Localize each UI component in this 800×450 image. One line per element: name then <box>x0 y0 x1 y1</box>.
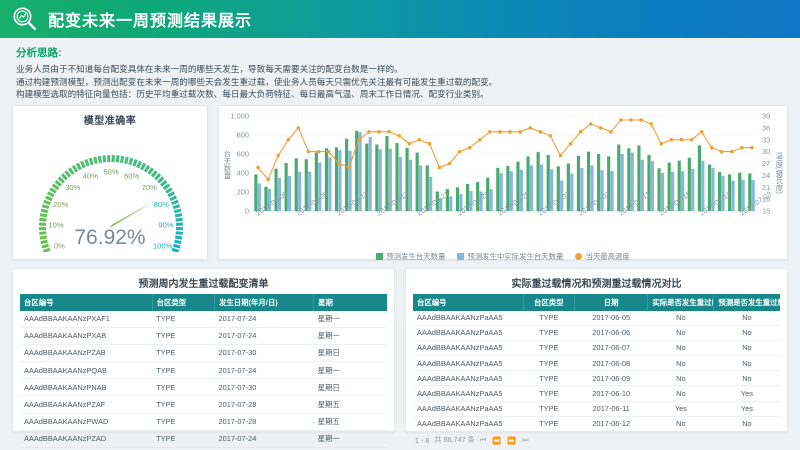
gauge-segment <box>66 171 70 176</box>
line-point <box>538 130 542 134</box>
table-cell: TYPE <box>523 416 574 431</box>
table-header-row: 台区编号台区类型发生日期(年月/日)星期 <box>20 294 387 311</box>
table-row[interactable]: AAAdBBAAKAANzPZAB TYPE2017-07-30星期日 <box>20 344 387 361</box>
table-cell: 2017-07-30 <box>215 344 314 361</box>
table-cell: AAAdBBAAKAANzPNAB <box>20 379 152 396</box>
bar <box>385 135 388 210</box>
bar <box>651 161 654 211</box>
table-cell: 星期日 <box>314 379 387 396</box>
bar <box>449 196 452 211</box>
gauge-panel: 模型准确率 0%10%20%30%40%50%60%70%80%90%100% … <box>12 105 208 260</box>
bar <box>621 154 624 211</box>
table-cell: 2017-07-24 <box>215 311 314 328</box>
table-cell: AAAdBBAAKAANzPXAF1 <box>20 311 152 328</box>
table-cell: 2017-06-12 <box>574 416 647 431</box>
line-point <box>468 145 472 149</box>
gauge-tick-label: 30% <box>65 183 80 192</box>
table-cell: No <box>648 356 714 371</box>
search-chart-icon <box>12 6 38 32</box>
pager-first-button[interactable]: ⏮ <box>480 435 487 445</box>
legend-label: 当天最高温度 <box>585 251 629 262</box>
pager-last-button[interactable]: ⏭ <box>522 435 529 445</box>
table-row[interactable]: AAAdBBAAKAANzPQAB TYPE2017-07-24星期一 <box>20 362 387 379</box>
gauge-segment <box>166 188 172 192</box>
table-row[interactable]: AAAdBBAAKAANzPaAA5TYPE2017-06-05NoNo <box>413 311 780 326</box>
table-row[interactable]: AAAdBBAAKAANzPaAA5TYPE2017-06-11YesYes <box>413 401 780 416</box>
table-row[interactable]: AAAdBBAAKAANzPaAA5TYPE2017-06-07NoNo <box>413 340 780 355</box>
gauge-segment <box>44 201 51 204</box>
table-cell: 星期一 <box>314 430 387 447</box>
table-cell: 2017-06-09 <box>574 371 647 386</box>
table-cell: 2017-06-06 <box>574 325 647 340</box>
line-point <box>710 145 714 149</box>
legend-swatch <box>457 253 464 260</box>
gauge-needle <box>109 201 154 228</box>
y-axis-tick: 200 <box>237 187 249 196</box>
bar <box>520 169 523 210</box>
bar <box>335 147 338 211</box>
table-cell: TYPE <box>523 356 574 371</box>
gauge-segment <box>46 196 52 199</box>
tables-row: 预测周内发生重过载配变清单 台区编号台区类型发生日期(年月/日)星期 AAAdB… <box>0 260 800 432</box>
table-cell: TYPE <box>523 340 574 355</box>
bar <box>379 149 382 211</box>
line-point <box>649 122 653 126</box>
bar <box>526 156 529 211</box>
gauge-segment <box>59 177 64 182</box>
table-cell: TYPE <box>152 311 214 328</box>
table-cell: AAAdBBAAKAANzPaAA5 <box>413 340 523 355</box>
line-point <box>256 165 260 169</box>
line-point <box>357 137 361 141</box>
table-cell: 2017-06-11 <box>574 401 647 416</box>
table-cell: AAAdBBAAKAANzPXAB <box>20 327 152 344</box>
pager-next-button[interactable]: ⏩ <box>507 436 517 445</box>
line-point <box>740 145 744 149</box>
line-point <box>458 149 462 153</box>
y-axis-tick: 800 <box>237 130 249 139</box>
line-point <box>498 130 502 134</box>
line-point <box>690 137 694 141</box>
line-point <box>579 130 583 134</box>
gauge-segment <box>161 181 166 185</box>
line-point <box>478 137 482 141</box>
bar <box>369 136 372 210</box>
gauge-segment <box>56 181 61 185</box>
line-point <box>337 161 341 165</box>
gauge-segment <box>77 163 80 169</box>
table-cell: AAAdBBAAKAANzPaAA5 <box>413 386 523 401</box>
actual-vs-forecast-pager[interactable]: 1 - 8 共 86,747 条 ⏮ ⏪ ⏩ ⏭ <box>413 432 780 445</box>
gauge-tick-label: 60% <box>124 171 139 180</box>
table-cell: No <box>714 340 780 355</box>
table-cell: 2017-07-24 <box>215 430 314 447</box>
table-cell: 星期日 <box>314 344 387 361</box>
gauge-segment <box>174 210 181 212</box>
table-cell: No <box>648 311 714 326</box>
page-title: 配变未来一周预测结果展示 <box>48 7 252 31</box>
forecast-bar-chart: 02004006008001,0001518212427303336392017… <box>219 106 787 256</box>
table-cell: AAAdBBAAKAANzPZAF <box>20 396 152 413</box>
gauge-segment <box>81 161 84 167</box>
bar <box>490 189 493 211</box>
gauge-segment <box>99 155 100 162</box>
line-point <box>518 130 522 134</box>
bar <box>658 168 661 211</box>
y2-axis-tick: 27 <box>762 159 770 168</box>
y-axis-tick: 400 <box>237 168 249 177</box>
line-point <box>438 165 442 169</box>
table-cell: 2017-07-24 <box>215 327 314 344</box>
table-cell: AAAdBBAAKAANzPaAA5 <box>413 311 523 326</box>
actual-vs-forecast-table: 台区编号台区类型日期实际是否发生重过载预测是否发生重过载 AAAdBBAAKAA… <box>413 294 780 433</box>
table-cell: 星期一 <box>314 327 387 344</box>
bar <box>325 148 328 211</box>
gauge-tick-label: 20% <box>53 200 68 209</box>
gauge-segment <box>86 159 88 166</box>
table-row[interactable]: AAAdBBAAKAANzPNAB TYPE2017-07-30星期日 <box>20 379 387 396</box>
bar <box>285 163 288 211</box>
legend-swatch <box>575 253 582 260</box>
line-point <box>448 161 452 165</box>
gauge-segment <box>95 156 97 163</box>
table-cell: 2017-07-28 <box>215 413 314 430</box>
bar <box>607 156 610 211</box>
legend-swatch <box>376 253 383 260</box>
gauge-segment <box>90 158 92 165</box>
bar <box>567 163 570 211</box>
table-cell: AAAdBBAAKAANzPZAB <box>20 344 152 361</box>
table-row[interactable]: AAAdBBAAKAANzPXAB TYPE2017-07-24星期一 <box>20 327 387 344</box>
line-point <box>286 137 290 141</box>
gauge-tick-label: 40% <box>83 171 98 180</box>
line-point <box>508 130 512 134</box>
y-axis-tick: 1,000 <box>231 111 250 120</box>
bar <box>577 155 580 210</box>
bar <box>611 171 614 211</box>
forecast-list-panel: 预测周内发生重过载配变清单 台区编号台区类型发生日期(年月/日)星期 AAAdB… <box>12 268 395 432</box>
chart-legend: 预测发生台天数量预测发生中实际发生台天数量当天最高温度 <box>219 251 787 262</box>
table-cell: AAAdBBAAKAANzPaAA5 <box>413 371 523 386</box>
table-cell: No <box>648 325 714 340</box>
gauge-segment <box>172 201 179 204</box>
line-point <box>659 141 663 145</box>
analysis-summary: 分析思路: 业务人员由于不知道每台配变具体在未来一周的哪些天发生，导致每天需要关… <box>0 38 800 105</box>
column-header[interactable]: 台区编号 <box>20 294 152 311</box>
column-header[interactable]: 实际是否发生重过载 <box>648 294 714 311</box>
pager-range: 1 - 8 <box>415 436 429 445</box>
column-header[interactable]: 台区类型 <box>152 294 214 311</box>
bar <box>416 152 419 210</box>
actual-vs-forecast-title: 实际重过载情况和预测重过载情况对比 <box>413 275 780 290</box>
table-cell: 2017-06-08 <box>574 356 647 371</box>
line-point <box>307 149 311 153</box>
table-cell: 星期五 <box>314 396 387 413</box>
table-cell: 星期一 <box>314 311 387 328</box>
line-point <box>407 141 411 145</box>
line-point <box>730 149 734 153</box>
bar <box>698 145 701 211</box>
table-cell: TYPE <box>152 362 214 379</box>
gauge-title: 模型准确率 <box>13 106 207 127</box>
line-point <box>266 177 270 181</box>
y2-axis-tick: 30 <box>762 147 770 156</box>
gauge-value: 76.92% <box>13 226 207 250</box>
line-point <box>720 149 724 153</box>
table-cell: AAAdBBAAKAANzPZAD <box>20 430 152 447</box>
analysis-line-2: 通过构建预测模型，预测出配变在未来一周的哪些天会发生重过载，使业务人员每天只需优… <box>16 76 786 89</box>
column-header[interactable]: 台区类型 <box>523 294 574 311</box>
table-cell: AAAdBBAAKAANzPQAB <box>20 362 152 379</box>
bar <box>540 164 543 211</box>
table-row[interactable]: AAAdBBAAKAANzPZAF TYPE2017-07-28星期五 <box>20 396 387 413</box>
line-point <box>367 130 371 134</box>
table-cell: TYPE <box>523 371 574 386</box>
bar <box>288 175 291 210</box>
line-point <box>750 145 754 149</box>
table-cell: AAAdBBAAKAANzPaAA5 <box>413 356 523 371</box>
gauge-segment <box>152 171 156 176</box>
bar <box>688 157 691 210</box>
y2-axis-tick: 36 <box>762 123 770 132</box>
table-cell: AAAdBBAAKAANzPaAA5 <box>413 325 523 340</box>
table-cell: TYPE <box>523 325 574 340</box>
bar <box>406 147 409 210</box>
gauge-segment <box>170 196 176 199</box>
gauge-segment <box>158 177 163 182</box>
bar <box>328 157 331 211</box>
pager-prev-button[interactable]: ⏪ <box>492 436 502 445</box>
line-point <box>639 118 643 122</box>
y2-axis-tick: 24 <box>762 170 770 179</box>
table-cell: No <box>714 356 780 371</box>
table-row[interactable]: AAAdBBAAKAANzPaAA5TYPE2017-06-06NoNo <box>413 325 780 340</box>
charts-row: 模型准确率 0%10%20%30%40%50%60%70%80%90%100% … <box>0 105 800 260</box>
bar <box>570 173 573 211</box>
line-point <box>609 130 613 134</box>
bar <box>409 159 412 210</box>
gauge-tick-label: 80% <box>154 200 169 209</box>
line-point <box>599 126 603 130</box>
table-cell: No <box>714 311 780 326</box>
table-cell: AAAdBBAAKAANzPaAA5 <box>413 401 523 416</box>
table-cell: No <box>648 386 714 401</box>
gauge-segment <box>62 174 67 179</box>
bar <box>691 168 694 210</box>
forecast-list-title: 预测周内发生重过载配变清单 <box>20 275 387 290</box>
table-cell: No <box>714 325 780 340</box>
line-point <box>428 141 432 145</box>
table-cell: Yes <box>714 401 780 416</box>
table-cell: No <box>648 340 714 355</box>
y-axis-tick: 0 <box>245 206 249 215</box>
line-point <box>700 130 704 134</box>
table-cell: TYPE <box>523 311 574 326</box>
table-cell: 2017-06-07 <box>574 340 647 355</box>
gauge-segment <box>48 192 54 195</box>
column-header[interactable]: 发生日期(年月/日) <box>215 294 314 311</box>
bar <box>537 152 540 211</box>
table-row[interactable]: AAAdBBAAKAANzPWAD TYPE2017-07-28星期五 <box>20 413 387 430</box>
column-header[interactable]: 日期 <box>574 294 647 311</box>
bar <box>254 174 257 211</box>
line-point <box>377 130 381 134</box>
gauge-segment <box>164 184 170 188</box>
table-row[interactable]: AAAdBBAAKAANzPaAA5TYPE2017-06-12NoNo <box>413 416 780 431</box>
legend-item[interactable]: 当天最高温度 <box>575 251 629 262</box>
forecast-bar-chart-panel: 02004006008001,0001518212427303336392017… <box>218 105 788 260</box>
table-row[interactable]: AAAdBBAAKAANzPXAF1TYPE2017-07-24星期一 <box>20 311 387 328</box>
line-point <box>680 137 684 141</box>
line-point <box>670 137 674 141</box>
line-point <box>559 153 563 157</box>
y-axis-right-label: 温度(摄氏度) <box>774 152 785 194</box>
gauge-segment <box>117 155 118 162</box>
table-cell: TYPE <box>523 386 574 401</box>
column-header[interactable]: 星期 <box>314 294 387 311</box>
gauge-segment <box>155 174 160 179</box>
bar <box>530 165 533 211</box>
gauge-segment <box>50 188 56 192</box>
line-point <box>629 118 633 122</box>
table-row[interactable]: AAAdBBAAKAANzPZAD TYPE2017-07-24星期一 <box>20 430 387 447</box>
line-point <box>488 130 492 134</box>
table-cell: TYPE <box>152 396 214 413</box>
gauge-segment <box>145 165 149 171</box>
legend-label: 预测发生中实际发生台天数量 <box>467 251 563 262</box>
gauge-segment <box>73 165 77 171</box>
table-cell: TYPE <box>523 401 574 416</box>
line-point <box>387 130 391 134</box>
line-point <box>619 118 623 122</box>
y-axis-left-label: 台天数量 <box>222 150 233 180</box>
pager-total: 共 86,747 条 <box>434 435 474 445</box>
table-row[interactable]: AAAdBBAAKAANzPaAA5TYPE2017-06-09NoNo <box>413 371 780 386</box>
table-cell: TYPE <box>152 327 214 344</box>
table-cell: 2017-07-24 <box>215 362 314 379</box>
table-cell: TYPE <box>152 413 214 430</box>
line-point <box>418 137 422 141</box>
gauge-tick-label: 50% <box>103 167 118 176</box>
y-axis-tick: 600 <box>237 149 249 158</box>
bar <box>419 165 422 211</box>
table-cell: 2017-06-05 <box>574 311 647 326</box>
legend-item[interactable]: 预测发生中实际发生台天数量 <box>457 251 563 262</box>
bar <box>338 150 341 211</box>
gauge-segment <box>40 214 47 215</box>
line-point <box>549 133 553 137</box>
table-cell: No <box>714 416 780 431</box>
table-cell: No <box>648 416 714 431</box>
table-row[interactable]: AAAdBBAAKAANzPaAA5TYPE2017-06-08NoNo <box>413 356 780 371</box>
gauge-segment <box>173 205 180 207</box>
actual-vs-forecast-panel: 实际重过载情况和预测重过载情况对比 台区编号台区类型日期实际是否发生重过载预测是… <box>405 268 788 432</box>
line-point <box>276 153 280 157</box>
analysis-line-3: 构建模型选取的特征向量包括：历史平均重过载次数、每日最大负荷特征、每日最高气温、… <box>16 88 786 101</box>
bar <box>647 154 650 210</box>
line-point <box>347 165 351 169</box>
gauge-segment <box>126 156 128 163</box>
line-point <box>528 126 532 130</box>
line-point <box>569 141 573 145</box>
bar <box>496 167 499 210</box>
legend-label: 预测发生台天数量 <box>386 251 445 262</box>
model-accuracy-gauge: 0%10%20%30%40%50%60%70%80%90%100% 76.92% <box>13 127 207 252</box>
y2-axis-tick: 39 <box>762 111 770 120</box>
table-cell: 星期五 <box>314 413 387 430</box>
line-point <box>297 126 301 130</box>
gauge-segment <box>176 219 183 220</box>
line-point <box>397 133 401 137</box>
table-cell: TYPE <box>152 430 214 447</box>
line-point <box>589 122 593 126</box>
gauge-segment <box>104 155 105 162</box>
table-cell: 星期一 <box>314 362 387 379</box>
bar <box>580 167 583 210</box>
gauge-segment <box>141 163 144 169</box>
bar <box>375 144 378 211</box>
gauge-segment <box>138 161 141 167</box>
gauge-segment <box>69 168 73 174</box>
table-cell: AAAdBBAAKAANzPWAD <box>20 413 152 430</box>
column-header[interactable]: 预测是否发生重过载 <box>714 294 780 311</box>
line-point <box>317 149 321 153</box>
table-cell: TYPE <box>152 344 214 361</box>
y2-axis-tick: 15 <box>762 206 770 215</box>
table-row[interactable]: AAAdBBAAKAANzPaAA5TYPE2017-06-10NoYes <box>413 386 780 401</box>
gauge-segment <box>122 155 123 162</box>
gauge-segment <box>134 159 136 166</box>
app-header: 配变未来一周预测结果展示 <box>0 0 800 38</box>
table-cell: 2017-07-28 <box>215 396 314 413</box>
y2-axis-tick: 33 <box>762 135 770 144</box>
gauge-segment <box>53 184 59 188</box>
gauge-segment <box>168 192 174 195</box>
legend-item[interactable]: 预测发生台天数量 <box>376 251 445 262</box>
table-cell: 2017-07-30 <box>215 379 314 396</box>
bar <box>738 172 741 210</box>
bar <box>365 143 368 210</box>
table-header-row: 台区编号台区类型日期实际是否发生重过载预测是否发生重过载 <box>413 294 780 311</box>
table-cell: AAAdBBAAKAANzPaAA5 <box>413 416 523 431</box>
gauge-segment <box>42 205 49 207</box>
table-cell: No <box>714 371 780 386</box>
gauge-segment <box>130 158 132 165</box>
forecast-list-table: 台区编号台区类型发生日期(年月/日)星期 AAAdBBAAKAANzPXAF1T… <box>20 294 387 449</box>
table-cell: No <box>648 371 714 386</box>
gauge-segment <box>149 168 153 174</box>
gauge-segment <box>175 214 182 215</box>
bar <box>701 160 704 210</box>
column-header[interactable]: 台区编号 <box>413 294 523 311</box>
table-cell: Yes <box>648 401 714 416</box>
bar <box>295 158 298 211</box>
table-cell: TYPE <box>152 379 214 396</box>
table-cell: Yes <box>714 386 780 401</box>
gauge-tick-label: 70% <box>142 183 157 192</box>
analysis-heading: 分析思路: <box>16 45 786 60</box>
analysis-line-1: 业务人员由于不知道每台配变具体在未来一周的哪些天发生，导致每天需要关注的配变台数… <box>16 63 786 76</box>
line-point <box>327 149 331 153</box>
gauge-segment <box>41 210 48 212</box>
gauge-segment <box>39 219 46 220</box>
table-cell: 2017-06-10 <box>574 386 647 401</box>
bar <box>617 144 620 211</box>
